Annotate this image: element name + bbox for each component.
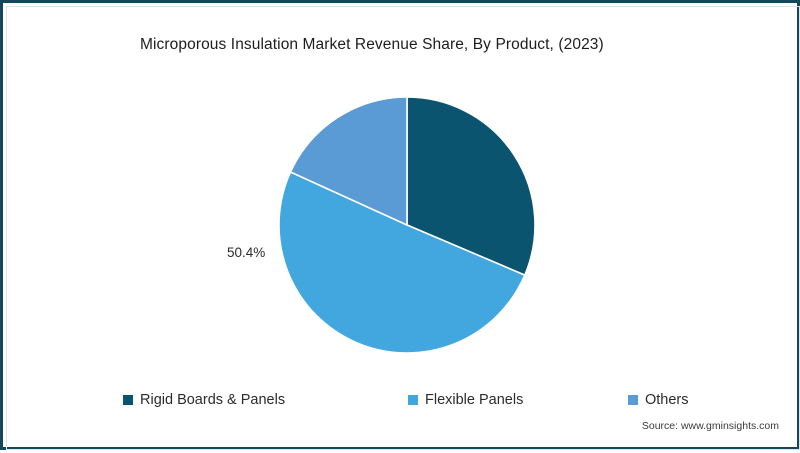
square-swatch-icon bbox=[408, 395, 418, 405]
legend-item-others[interactable]: Others bbox=[628, 389, 689, 411]
pie-slice-group bbox=[279, 97, 535, 353]
square-swatch-icon bbox=[628, 395, 638, 405]
chart-card-frame: Microporous Insulation Market Revenue Sh… bbox=[0, 0, 800, 450]
legend-item-label: Rigid Boards & Panels bbox=[140, 392, 285, 408]
legend-item-label: Others bbox=[645, 392, 689, 408]
pie-chart-svg bbox=[3, 3, 800, 453]
pie-chart: 50.4% bbox=[3, 3, 800, 453]
legend-item-rigid-boards-panels[interactable]: Rigid Boards & Panels bbox=[123, 389, 285, 411]
legend-item-label: Flexible Panels bbox=[425, 392, 523, 408]
pie-data-label-flexible-panels: 50.4% bbox=[227, 245, 265, 260]
chart-legend: Rigid Boards & Panels Flexible Panels Ot… bbox=[123, 389, 723, 411]
square-swatch-icon bbox=[123, 395, 133, 405]
legend-item-flexible-panels[interactable]: Flexible Panels bbox=[408, 389, 523, 411]
source-note: Source: www.gminsights.com bbox=[642, 420, 779, 432]
